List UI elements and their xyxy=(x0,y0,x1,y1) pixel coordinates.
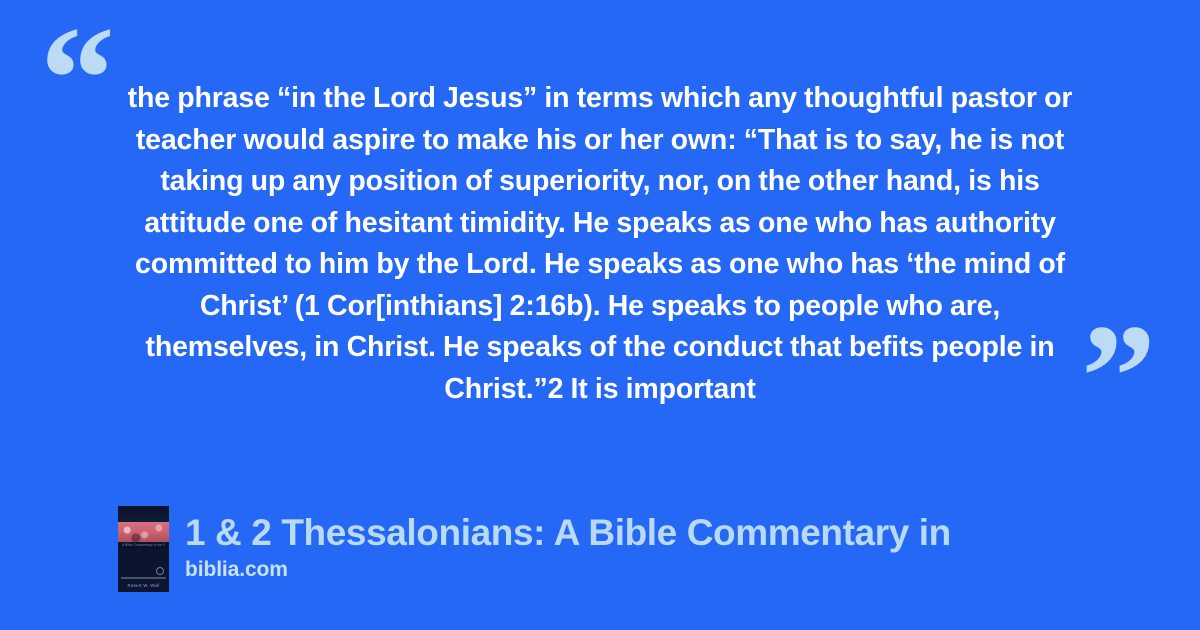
closing-quote-mark-icon: ” xyxy=(1081,302,1158,452)
cover-author-strip: Robert W. Wall xyxy=(121,582,166,589)
source-footer: A Bible Commentary in the Wesleyan Tradi… xyxy=(118,506,951,592)
book-title: 1 & 2 Thessalonians: A Bible Commentary … xyxy=(185,511,951,554)
book-cover-thumbnail: A Bible Commentary in the Wesleyan Tradi… xyxy=(118,506,169,592)
quote-body: the phrase “in the Lord Jesus” in terms … xyxy=(0,78,1200,410)
cover-subtitle-strip: A Bible Commentary in the Wesleyan Tradi… xyxy=(122,543,165,548)
cover-publisher-logo-icon xyxy=(156,567,164,575)
cover-photo-band xyxy=(118,522,169,542)
source-text-group: 1 & 2 Thessalonians: A Bible Commentary … xyxy=(185,506,951,583)
cover-foot-rule xyxy=(121,577,166,579)
quote-text: the phrase “in the Lord Jesus” in terms … xyxy=(118,78,1082,410)
quote-card: “ the phrase “in the Lord Jesus” in term… xyxy=(0,0,1200,630)
cover-top-band xyxy=(118,506,169,522)
site-name: biblia.com xyxy=(185,556,951,583)
